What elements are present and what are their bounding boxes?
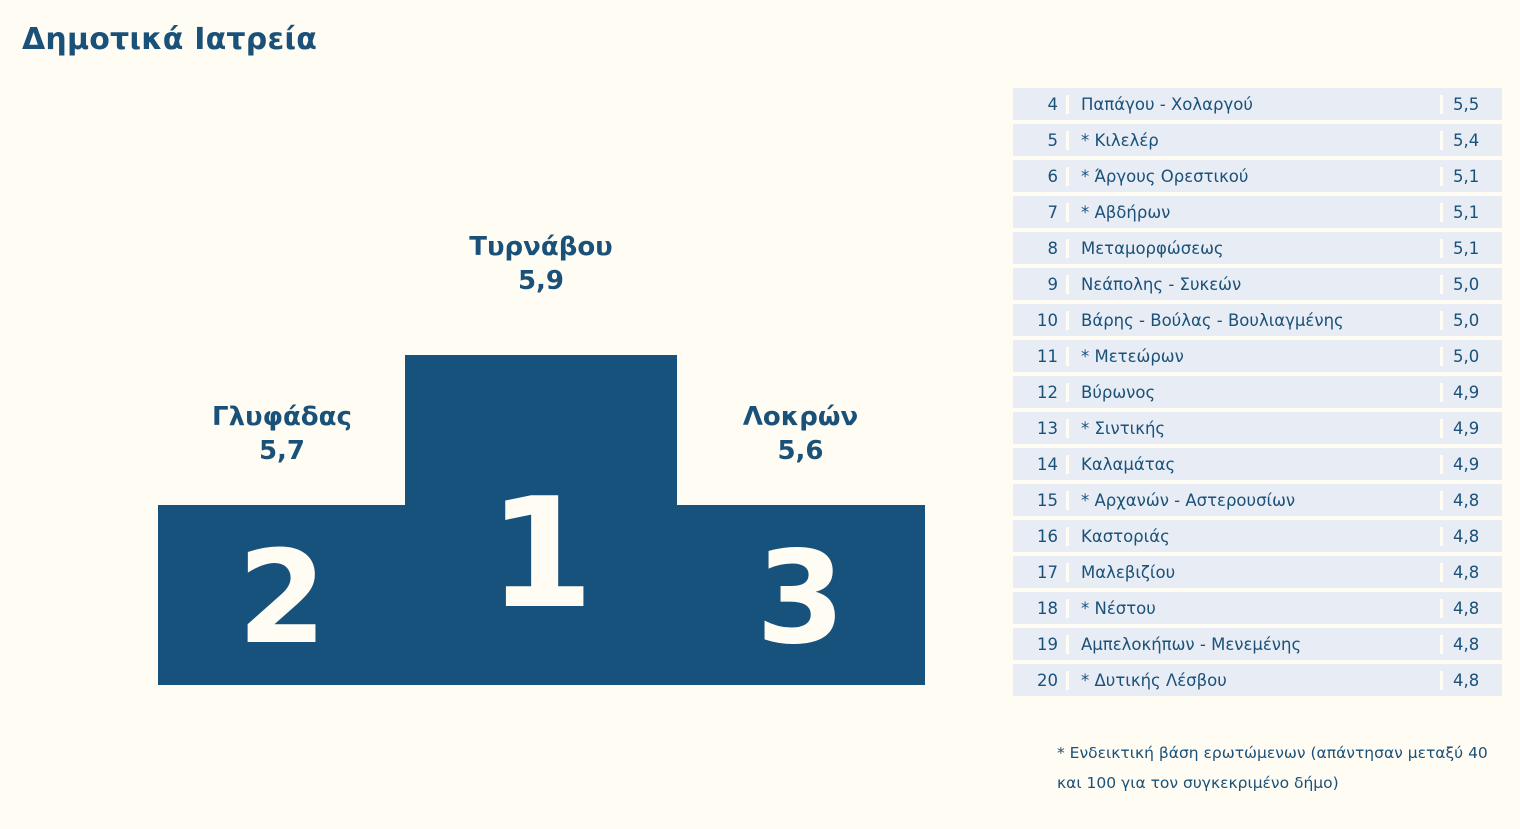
table-cell-rank: 20 (1013, 671, 1069, 690)
podium-rank-numeral-second: 2 (237, 535, 326, 663)
table-cell-municipality: * Αρχανών - Αστερουσίων (1069, 491, 1440, 510)
table-cell-rank: 17 (1013, 563, 1069, 582)
table-cell-score: 4,8 (1440, 491, 1502, 510)
table-row: 8Μεταμορφώσεως5,1 (1013, 232, 1502, 264)
table-cell-score: 5,0 (1440, 275, 1502, 294)
table-row: 5* Κιλελέρ5,4 (1013, 124, 1502, 156)
table-cell-municipality: Παπάγου - Χολαργού (1069, 95, 1440, 114)
table-cell-rank: 5 (1013, 131, 1069, 150)
table-cell-municipality: Μεταμορφώσεως (1069, 239, 1440, 258)
podium-rank-numeral-first: 1 (488, 478, 594, 630)
table-row: 11* Μετεώρων5,0 (1013, 340, 1502, 372)
table-cell-score: 4,9 (1440, 455, 1502, 474)
ranking-table: 4Παπάγου - Χολαργού5,55* Κιλελέρ5,46* Άρ… (1013, 88, 1502, 700)
table-cell-municipality: Καστοριάς (1069, 527, 1440, 546)
table-cell-municipality: Μαλεβιζίου (1069, 563, 1440, 582)
table-cell-score: 4,8 (1440, 599, 1502, 618)
table-row: 17Μαλεβιζίου4,8 (1013, 556, 1502, 588)
table-cell-municipality: * Αβδήρων (1069, 203, 1440, 222)
table-cell-score: 5,0 (1440, 347, 1502, 366)
table-cell-rank: 19 (1013, 635, 1069, 654)
table-cell-score: 4,8 (1440, 635, 1502, 654)
table-row: 12Βύρωνος4,9 (1013, 376, 1502, 408)
table-cell-rank: 11 (1013, 347, 1069, 366)
table-cell-score: 4,8 (1440, 563, 1502, 582)
table-cell-score: 4,8 (1440, 671, 1502, 690)
table-row: 6* Άργους Ορεστικού5,1 (1013, 160, 1502, 192)
table-cell-rank: 6 (1013, 167, 1069, 186)
table-cell-rank: 8 (1013, 239, 1069, 258)
table-cell-rank: 12 (1013, 383, 1069, 402)
table-cell-rank: 10 (1013, 311, 1069, 330)
table-cell-score: 4,9 (1440, 419, 1502, 438)
table-cell-municipality: * Νέστου (1069, 599, 1440, 618)
table-cell-rank: 15 (1013, 491, 1069, 510)
table-cell-municipality: Βάρης - Βούλας - Βουλιαγμένης (1069, 311, 1440, 330)
table-cell-municipality: Βύρωνος (1069, 383, 1440, 402)
table-row: 7* Αβδήρων5,1 (1013, 196, 1502, 228)
table-row: 10Βάρης - Βούλας - Βουλιαγμένης5,0 (1013, 304, 1502, 336)
table-cell-municipality: * Άργους Ορεστικού (1069, 167, 1440, 186)
table-row: 9Νεάπολης - Συκεών5,0 (1013, 268, 1502, 300)
table-cell-municipality: * Δυτικής Λέσβου (1069, 671, 1440, 690)
table-cell-rank: 14 (1013, 455, 1069, 474)
table-cell-rank: 7 (1013, 203, 1069, 222)
table-cell-rank: 18 (1013, 599, 1069, 618)
podium-score-first: 5,9 (405, 264, 677, 298)
table-row: 16Καστοριάς4,8 (1013, 520, 1502, 552)
podium-label-second: Γλυφάδας 5,7 (158, 400, 406, 469)
table-cell-rank: 4 (1013, 95, 1069, 114)
podium-municipality-second: Γλυφάδας (158, 400, 406, 434)
table-cell-score: 4,8 (1440, 527, 1502, 546)
table-row: 19Αμπελοκήπων - Μενεμένης4,8 (1013, 628, 1502, 660)
table-cell-municipality: * Μετεώρων (1069, 347, 1440, 366)
podium-municipality-third: Λοκρών (676, 400, 925, 434)
table-cell-municipality: * Σιντικής (1069, 419, 1440, 438)
table-row: 4Παπάγου - Χολαργού5,5 (1013, 88, 1502, 120)
table-row: 13* Σιντικής4,9 (1013, 412, 1502, 444)
podium-block-second: 2 (158, 505, 406, 685)
table-cell-rank: 9 (1013, 275, 1069, 294)
table-cell-rank: 16 (1013, 527, 1069, 546)
table-cell-municipality: Αμπελοκήπων - Μενεμένης (1069, 635, 1440, 654)
table-row: 20* Δυτικής Λέσβου4,8 (1013, 664, 1502, 696)
podium-score-third: 5,6 (676, 434, 925, 468)
podium-municipality-first: Τυρνάβου (405, 230, 677, 264)
podium-block-first: 1 (405, 355, 677, 685)
table-cell-score: 5,1 (1440, 167, 1502, 186)
podium-label-third: Λοκρών 5,6 (676, 400, 925, 469)
table-cell-municipality: Καλαμάτας (1069, 455, 1440, 474)
table-cell-score: 4,9 (1440, 383, 1502, 402)
table-cell-score: 5,5 (1440, 95, 1502, 114)
table-cell-score: 5,4 (1440, 131, 1502, 150)
table-cell-score: 5,1 (1440, 239, 1502, 258)
table-row: 14Καλαμάτας4,9 (1013, 448, 1502, 480)
table-cell-rank: 13 (1013, 419, 1069, 438)
table-row: 15* Αρχανών - Αστερουσίων4,8 (1013, 484, 1502, 516)
table-cell-municipality: Νεάπολης - Συκεών (1069, 275, 1440, 294)
table-cell-municipality: * Κιλελέρ (1069, 131, 1440, 150)
podium-rank-numeral-third: 3 (756, 535, 845, 663)
footnote-text: * Ενδεικτική βάση ερωτώμενων (απάντησαν … (1057, 738, 1503, 798)
table-cell-score: 5,0 (1440, 311, 1502, 330)
podium-chart: Τυρνάβου 5,9 Γλυφάδας 5,7 Λοκρών 5,6 2 3… (0, 0, 1000, 829)
podium-label-first: Τυρνάβου 5,9 (405, 230, 677, 299)
table-row: 18* Νέστου4,8 (1013, 592, 1502, 624)
table-cell-score: 5,1 (1440, 203, 1502, 222)
podium-score-second: 5,7 (158, 434, 406, 468)
podium-block-third: 3 (676, 505, 925, 685)
